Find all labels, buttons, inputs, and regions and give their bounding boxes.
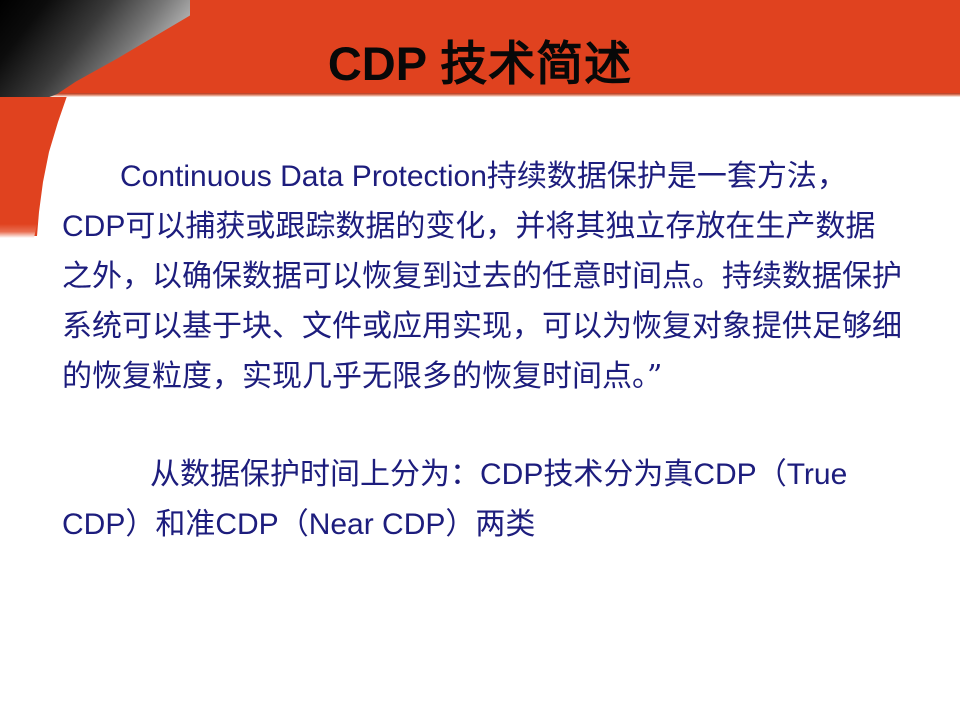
slide-title-space xyxy=(427,37,440,90)
text-run-cjk-8: （ xyxy=(279,507,309,542)
text-run-latin-0: Continuous Data Protection xyxy=(120,160,487,193)
text-run-cjk-10: ）两类 xyxy=(445,507,535,542)
slide-canvas: CDP 技术简述 Continuous Data Protection持续数据保… xyxy=(0,0,960,720)
text-run-cjk-2: 技术分为真 xyxy=(543,457,693,492)
text-run-latin-2: CDP xyxy=(62,210,125,243)
text-run-cjk-3: 可以捕获或跟踪数据的变化，并将其独立存放在生产数据之外，以确保数据可以恢复到过去… xyxy=(62,209,902,394)
text-run-cjk-1: 持续数据保护是一套方法， xyxy=(487,159,847,194)
slide-body: Continuous Data Protection持续数据保护是一套方法，CD… xyxy=(62,152,902,550)
slide-title: CDP 技术简述 xyxy=(0,25,960,94)
paragraph-classification: 从数据保护时间上分为：CDP技术分为真CDP（True CDP）和准CDP（Ne… xyxy=(62,450,902,550)
slide-title-latin: CDP xyxy=(328,37,427,90)
text-run-latin-1: CDP xyxy=(480,458,543,491)
paragraph-definition-text: Continuous Data Protection持续数据保护是一套方法，CD… xyxy=(62,160,902,393)
text-run-latin-7: CDP xyxy=(215,508,278,541)
text-run-latin-9: Near CDP xyxy=(309,508,446,541)
text-run-cjk-6: ）和准 xyxy=(125,507,215,542)
slide-title-cjk: 技术简述 xyxy=(440,37,632,92)
text-run-cjk-4: （ xyxy=(757,457,787,492)
paragraph-classification-text: 从数据保护时间上分为：CDP技术分为真CDP（True CDP）和准CDP（Ne… xyxy=(62,458,847,541)
text-run-latin-3: CDP xyxy=(693,458,756,491)
text-run-cjk-0: 从数据保护时间上分为： xyxy=(150,457,480,492)
paragraph-definition: Continuous Data Protection持续数据保护是一套方法，CD… xyxy=(62,152,902,402)
